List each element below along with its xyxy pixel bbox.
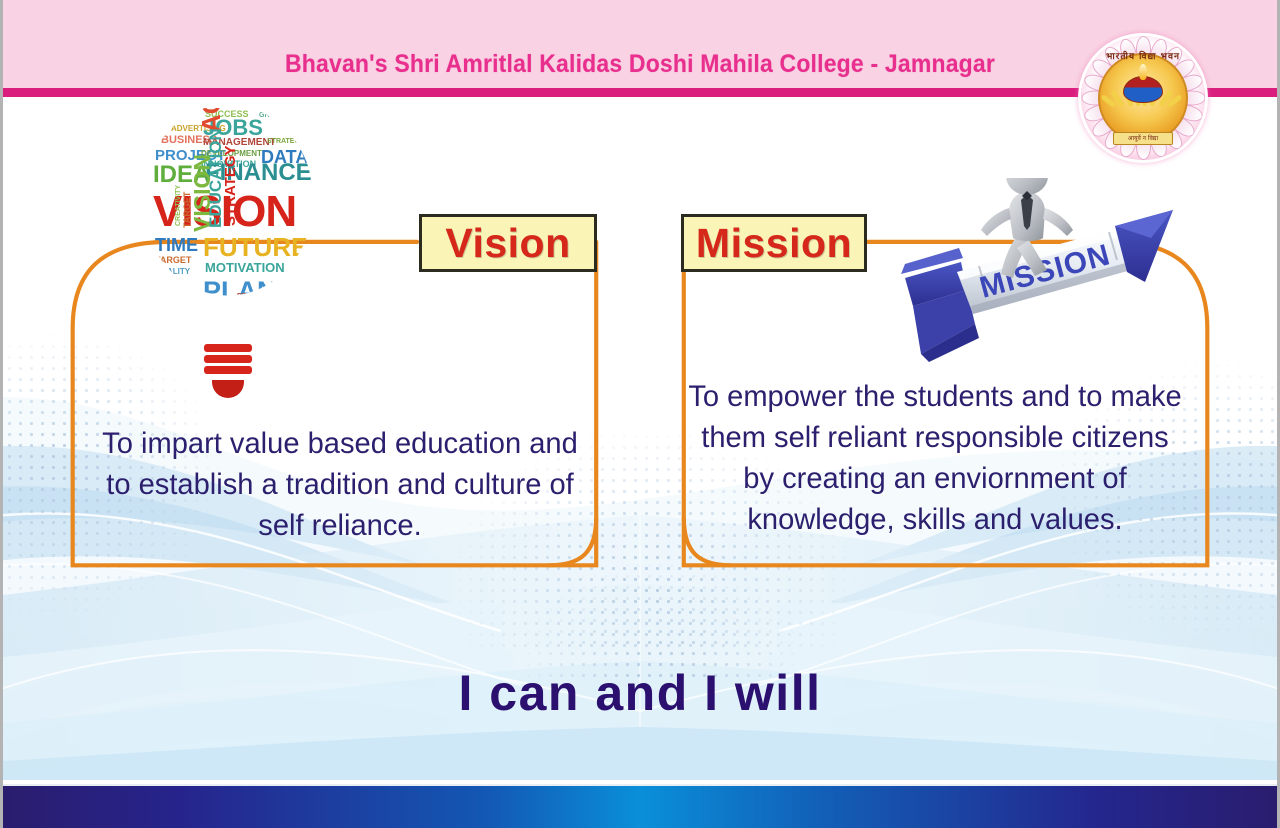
logo-lamp [1123, 76, 1163, 103]
logo-flame [1139, 64, 1147, 80]
mission-label-text: Mission [696, 220, 852, 267]
page-title: Bhavan's Shri Amritlal Kalidas Doshi Mah… [54, 50, 1226, 79]
logo-motto-banner: आयुर्वे न विद्या [1113, 132, 1173, 145]
rocket-with-figure-icon: MISSION [883, 178, 1203, 378]
mission-label-chip: Mission [681, 214, 867, 272]
mission-statement-text: To empower the students and to make them… [683, 376, 1187, 540]
logo-script-text: भारतीय विद्या भवन [1081, 49, 1205, 62]
bharatiya-vidya-bhavan-logo: भारतीय विद्या भवन आयुर्वे न विद्या [1081, 36, 1205, 160]
vision-statement-text: To impart value based education and to e… [93, 423, 588, 546]
vision-label-chip: Vision [419, 214, 597, 272]
lightbulb-word-cloud-icon: SUCCESS GROWTH ADVERTISING JOBS BUSINESS… [143, 108, 313, 398]
tagline-text: I can and I will [3, 664, 1277, 722]
vision-label-text: Vision [445, 220, 570, 267]
poster-canvas: SUCCESS GROWTH ADVERTISING JOBS BUSINESS… [0, 0, 1280, 828]
halftone-dots-upper-center [523, 560, 803, 680]
bulb-base [204, 344, 252, 398]
footer-bar [3, 784, 1277, 828]
